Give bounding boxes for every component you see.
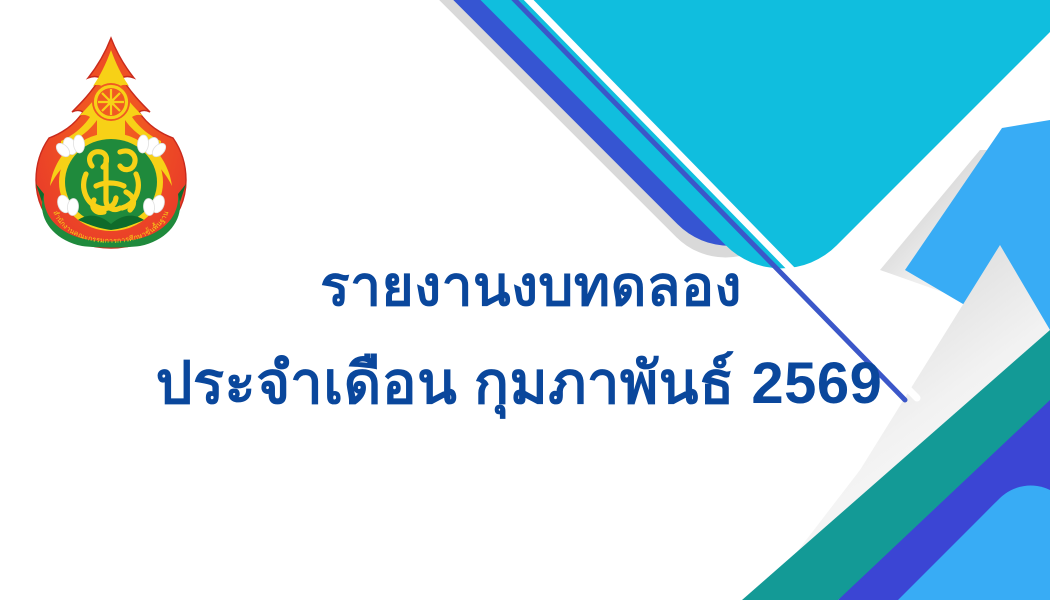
obec-emblem: สำนักงานคณะกรรมการการศึกษาขั้นพื้นฐาน (30, 34, 192, 256)
report-cover-page: สำนักงานคณะกรรมการการศึกษาขั้นพื้นฐาน รา… (0, 0, 1050, 600)
